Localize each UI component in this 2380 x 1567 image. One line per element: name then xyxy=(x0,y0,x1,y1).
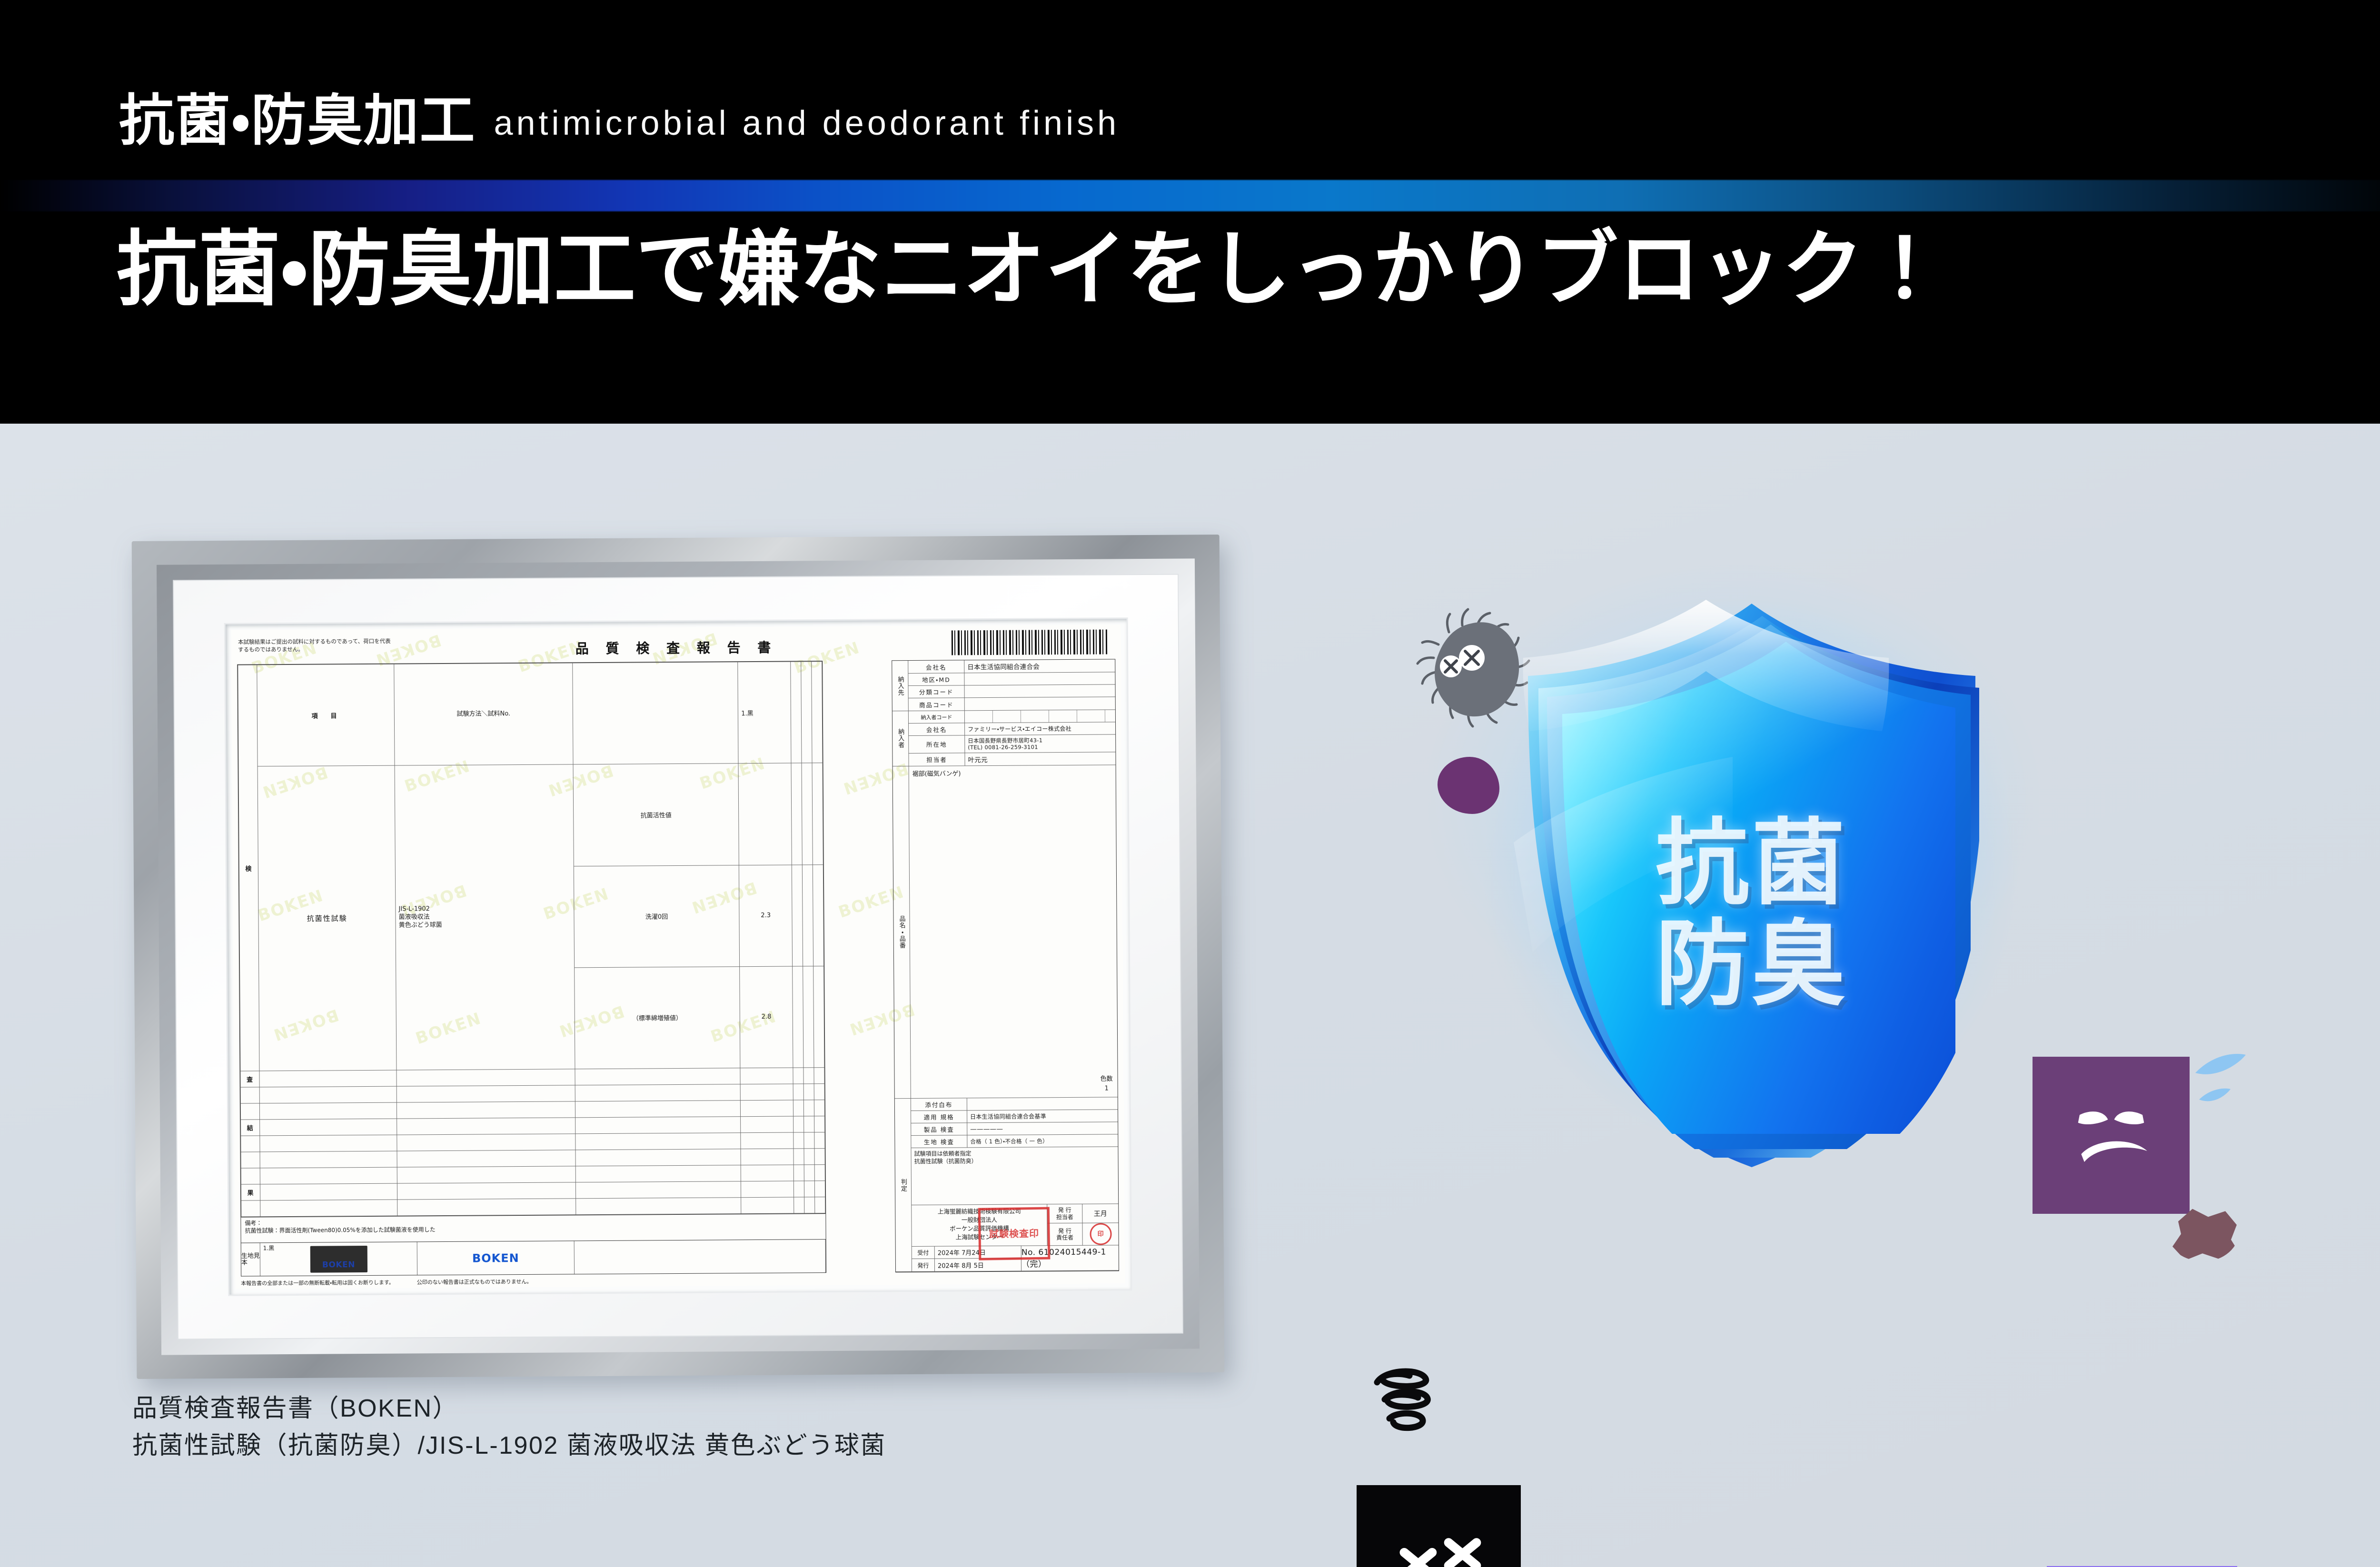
info-row: 担当者 叶元元 xyxy=(909,752,1115,766)
value-issued: 2024年 8月 5日 xyxy=(935,1259,1021,1271)
cell-blank xyxy=(794,1197,804,1213)
issuer-meta-row: 発 行 責任者 印 xyxy=(1047,1223,1118,1245)
judgement-vertical-label: 判定 xyxy=(895,1099,912,1271)
swatch-blank-cell xyxy=(575,1240,826,1274)
color-count-label: 色数 xyxy=(1101,1074,1113,1084)
cell-blank xyxy=(575,1068,741,1085)
cell-sub-value-0 xyxy=(738,763,792,865)
cell-blank xyxy=(812,763,823,864)
key-supplier-company: 会社名 xyxy=(909,723,965,735)
cell-blank xyxy=(240,1087,259,1103)
cell-blank xyxy=(792,864,803,966)
cell-blank xyxy=(793,1100,804,1116)
key-product-code: 商品コード xyxy=(909,698,965,711)
value-issue-manager: 印 xyxy=(1082,1223,1118,1245)
caption-line-1: 品質検査報告書（BOKEN） xyxy=(132,1390,886,1427)
cell-blank xyxy=(397,1069,575,1086)
cell-blank xyxy=(741,1100,793,1117)
value-supplier-contact: 叶元元 xyxy=(965,752,1115,765)
cell-blank xyxy=(575,1133,741,1150)
cell-blank xyxy=(802,763,813,864)
cell-blank xyxy=(259,1070,397,1087)
cell-blank xyxy=(793,966,803,1068)
cell-blank xyxy=(241,1200,260,1217)
cell-blank xyxy=(741,1165,794,1181)
judgement-block: 判定 添付白布 適用 規格 日本生活協同組合連合会基準 製品 検査 ————— xyxy=(895,1097,1119,1272)
cell-blank xyxy=(804,1116,814,1132)
antibacterial-shield-badge: 抗菌 防臭 xyxy=(1514,600,1990,1147)
table-header-row: 検 項 目 試験方法＼試料No. 1.黒 xyxy=(238,662,823,767)
cell-blank xyxy=(260,1119,397,1136)
cell-sub-value-2: 2.8 xyxy=(740,966,793,1068)
col-header-item: 項 目 xyxy=(257,664,395,766)
info-row: 会社名 日本生活協同組合連合会 xyxy=(908,659,1115,674)
swatch-vertical-label: 生地見本 xyxy=(241,1243,260,1276)
cell-blank xyxy=(241,1152,260,1168)
dates-block: 受付 2024年 7月24日 発行 2024年 8月 5日 No. 610240… xyxy=(912,1245,1119,1271)
value-received: 2024年 7月24日 xyxy=(935,1246,1021,1259)
dizzy-squiggle-icon xyxy=(1368,1366,1464,1457)
key-standard: 適用 規格 xyxy=(911,1111,967,1123)
cell-blank xyxy=(794,1181,804,1197)
info-row: 生地 検査 合格（ 1 色）・不合格（ 一 色） xyxy=(911,1134,1118,1148)
value-supplier-address: 日本国長野県長野市居町43-1 (TEL) 0081-26-259-3101 xyxy=(965,734,1115,753)
report-info-panel: 納入先 会社名 日本生活協同組合連合会 地区・MD 分類コード xyxy=(892,659,1119,1272)
col-header-blank xyxy=(572,662,738,764)
value-supplier-code xyxy=(965,710,1115,723)
issuer-meta: 発 行 担当者 王月 発 行 責任者 印 xyxy=(1047,1204,1119,1245)
info-row: 添付白布 xyxy=(911,1097,1118,1111)
key-category-code: 分類コード xyxy=(909,685,965,698)
col-header-x2 xyxy=(801,662,812,763)
red-seal-icon: 印 xyxy=(1090,1223,1111,1245)
cell-blank xyxy=(814,1165,825,1181)
cell-blank xyxy=(741,1149,793,1165)
product-name: 裾部(磁気バンゲ) xyxy=(912,770,961,778)
key-fabric-inspection: 生地 検査 xyxy=(911,1135,967,1148)
value-product-code xyxy=(965,697,1115,710)
key-issued: 発行 xyxy=(912,1259,935,1271)
product-vertical-label: 品名・品番 xyxy=(893,766,911,1098)
key-supplier-address: 所在地 xyxy=(909,735,965,753)
page-headline: 抗菌・防臭加工で嫌なニオイをしっかりブロック！ xyxy=(117,224,1945,316)
info-row: 製品 検査 ————— xyxy=(911,1122,1118,1136)
cell-blank xyxy=(741,1116,793,1133)
fabric-swatch: BOKEN xyxy=(310,1246,367,1273)
framed-certificate: BOKEN BOKEN BOKEN BOKEN BOKEN BOKEN BOKE… xyxy=(132,535,1225,1379)
table-row: 抗菌性試験 JIS-L-1902 菌液吸収法 黄色ぶどう球菌 抗菌活性値 xyxy=(238,763,823,868)
cell-blank xyxy=(814,1100,824,1116)
value-district xyxy=(964,672,1115,685)
cell-blank xyxy=(741,1132,793,1149)
cell-test-name: 抗菌性試験 xyxy=(258,765,397,1071)
product-block: 品名・品番 裾部(磁気バンゲ) 色数 1 xyxy=(893,765,1118,1099)
date-row: 発行 2024年 8月 5日 xyxy=(912,1259,1021,1271)
value-attached-cloth xyxy=(967,1097,1118,1110)
cell-blank xyxy=(397,1085,575,1102)
issuer-line-1: 上海蛍麗紡織技術検験有限公司 xyxy=(914,1207,1044,1216)
cell-blank xyxy=(575,1149,741,1166)
vertical-label-ken: 検 xyxy=(238,665,259,1071)
cell-blank xyxy=(575,1198,741,1215)
cell-blank xyxy=(259,1086,397,1103)
cell-blank xyxy=(575,1181,741,1199)
cell-blank xyxy=(241,1168,260,1184)
swatch-chip-cell: 1.黒 BOKEN xyxy=(260,1242,417,1276)
issuer-meta-row: 発 行 担当者 王月 xyxy=(1047,1204,1118,1223)
results-table: 検 項 目 試験方法＼試料No. 1.黒 抗菌性試験 JIS-L-1902 菌液… xyxy=(237,661,826,1217)
key-supplier-code: 納入者コード xyxy=(909,711,965,723)
cell-sub-label-0: 抗菌活性値 xyxy=(573,764,739,866)
cell-blank xyxy=(804,1132,814,1149)
cell-blank xyxy=(575,1117,741,1134)
footer-note-1: 本報告書の全部または一部の無断転載・転用は固くお断りします。 xyxy=(241,1279,394,1287)
cell-blank xyxy=(814,1084,824,1100)
date-row: 受付 2024年 7月24日 xyxy=(912,1246,1021,1259)
cell-blank xyxy=(804,1165,814,1181)
cell-blank xyxy=(791,763,802,864)
cell-blank xyxy=(260,1151,397,1168)
info-row: 地区・MD xyxy=(908,672,1115,686)
key-issue-staff: 発 行 担当者 xyxy=(1047,1204,1082,1223)
cell-blank xyxy=(804,1149,814,1165)
swatch-chip-logo: BOKEN xyxy=(322,1260,355,1269)
cell-blank xyxy=(740,1084,793,1101)
eyebrow-japanese: 抗菌・防臭加工 xyxy=(119,93,476,148)
cell-sub-value-1: 2.3 xyxy=(739,865,793,967)
key-issue-manager: 発 行 責任者 xyxy=(1047,1223,1082,1245)
cell-blank xyxy=(397,1118,575,1135)
col-header-x1 xyxy=(791,662,802,763)
supplier-vertical-label: 納入者 xyxy=(892,711,909,766)
document-number: No. 61024015449-1（完） xyxy=(1021,1245,1119,1270)
issuer-line-2: 一般財団法人 xyxy=(914,1215,1044,1225)
judgement-note: 試験項目は依頼者指定 抗菌性試験（抗菌防臭） xyxy=(911,1147,1118,1205)
caption-line-2: 抗菌性試験（抗菌防臭）/JIS-L-1902 菌液吸収法 黄色ぶどう球菌 xyxy=(132,1427,886,1464)
color-count-value: 1 xyxy=(1101,1084,1113,1093)
cell-blank xyxy=(803,1100,814,1116)
virus-body xyxy=(1358,1488,1519,1567)
cell-blank xyxy=(803,1068,814,1084)
delivery-to-vertical-label: 納入先 xyxy=(892,661,909,711)
cell-sub-label-2: （標準綿増殖値） xyxy=(574,966,740,1069)
issuer-line-3: ボーケン品質評価機構 xyxy=(914,1224,1044,1234)
cell-blank xyxy=(803,1084,814,1100)
color-count: 色数 1 xyxy=(1101,1074,1113,1093)
cell-blank xyxy=(814,1068,824,1084)
supplier-block: 納入者 納入者コード 会社名 ファミリー・サービス・エイコー株式会社 所在地 xyxy=(892,710,1116,766)
issuer-line-4: 上海試験センター xyxy=(915,1233,1044,1242)
value-company: 日本生活協同組合連合会 xyxy=(964,659,1115,673)
eyebrow-row: 抗菌・防臭加工 antimicrobial and deodorant fini… xyxy=(119,93,1120,148)
cell-blank xyxy=(813,864,823,966)
cell-blank xyxy=(397,1134,575,1151)
cell-blank xyxy=(260,1200,397,1217)
fabric-swatch-row: 生地見本 1.黒 BOKEN BOKEN xyxy=(241,1240,826,1277)
certificate-caption: 品質検査報告書（BOKEN） 抗菌性試験（抗菌防臭）/JIS-L-1902 菌液… xyxy=(132,1390,886,1464)
cell-blank xyxy=(793,1116,804,1132)
cell-blank xyxy=(397,1182,576,1200)
value-issue-staff: 王月 xyxy=(1082,1204,1118,1222)
content-stage: BOKEN BOKEN BOKEN BOKEN BOKEN BOKEN BOKE… xyxy=(0,424,2380,1567)
cell-blank xyxy=(575,1165,741,1182)
cell-blank xyxy=(803,966,814,1068)
barcode xyxy=(952,629,1109,655)
shield-label: 抗菌 防臭 xyxy=(1514,600,1990,1171)
cell-blank xyxy=(740,1068,793,1084)
value-product-inspection: ————— xyxy=(967,1122,1118,1135)
cell-blank xyxy=(793,1068,803,1084)
cell-blank xyxy=(815,1197,825,1213)
swatch-number: 1.黒 xyxy=(263,1244,275,1252)
cell-test-method: JIS-L-1902 菌液吸収法 黄色ぶどう球菌 xyxy=(395,764,575,1070)
cell-blank xyxy=(814,1116,825,1132)
key-received: 受付 xyxy=(912,1247,935,1259)
shield-line-1: 抗菌 xyxy=(1656,814,1848,913)
sweat-drop-small xyxy=(2199,1089,2231,1101)
shield-line-2: 防臭 xyxy=(1656,915,1848,1014)
info-row: 所在地 日本国長野県長野市居町43-1 (TEL) 0081-26-259-31… xyxy=(909,734,1115,753)
key-attached-cloth: 添付白布 xyxy=(911,1098,967,1111)
info-row: 会社名 ファミリー・サービス・エイコー株式会社 xyxy=(909,722,1115,736)
cell-blank xyxy=(397,1150,575,1167)
info-row: 分類コード xyxy=(909,684,1115,698)
cell-blank xyxy=(804,1197,815,1213)
sweat-drops-icon xyxy=(2185,1052,2266,1142)
info-row: 商品コード xyxy=(909,697,1115,711)
value-supplier-company: ファミリー・サービス・エイコー株式会社 xyxy=(965,722,1115,735)
cell-blank xyxy=(793,1084,803,1100)
cell-blank xyxy=(260,1167,397,1184)
value-standard: 日本生活協同組合連合会基準 xyxy=(967,1110,1118,1122)
cell-blank xyxy=(802,864,813,966)
table-row xyxy=(241,1197,825,1217)
col-header-method: 試験方法＼試料No. xyxy=(394,663,573,766)
cell-blank xyxy=(814,1132,825,1149)
cell-blank xyxy=(793,1149,804,1165)
black-virus-svg xyxy=(1357,1485,1521,1567)
cell-blank xyxy=(575,1101,741,1118)
issuer-name: 上海蛍麗紡織技術検験有限公司 一般財団法人 ボーケン品質評価機構 上海試験センタ… xyxy=(912,1204,1047,1246)
cell-blank xyxy=(397,1166,575,1183)
footer-note-2: 公印のない報告書は正式なものではありません。 xyxy=(417,1278,532,1286)
col-header-x3 xyxy=(812,662,823,763)
boken-logo: BOKEN xyxy=(417,1241,575,1275)
value-category-code xyxy=(965,684,1115,697)
cell-blank xyxy=(814,1181,825,1197)
info-row: 適用 規格 日本生活協同組合連合会基準 xyxy=(911,1110,1118,1123)
cell-blank xyxy=(575,1084,741,1101)
cell-blank xyxy=(814,1149,825,1165)
cell-blank xyxy=(793,1165,804,1181)
accent-gradient-band xyxy=(0,180,2380,211)
cell-blank xyxy=(260,1183,397,1200)
info-row: 納入者コード xyxy=(909,710,1115,724)
cell-sub-label-1: 洗濯0回 xyxy=(574,865,740,967)
eyebrow-english: antimicrobial and deodorant finish xyxy=(494,105,1120,148)
vertical-label-sa: 査 xyxy=(240,1071,259,1087)
issuer-block: 上海蛍麗紡織技術検験有限公司 一般財団法人 ボーケン品質評価機構 上海試験センタ… xyxy=(912,1204,1119,1247)
delivery-to-block: 納入先 会社名 日本生活協同組合連合会 地区・MD 分類コード xyxy=(892,659,1115,711)
black-virus-icon xyxy=(1357,1485,1521,1567)
key-district: 地区・MD xyxy=(908,673,964,685)
cell-blank xyxy=(804,1181,814,1197)
remarks-box: 備考： 抗菌性試験：界面活性剤(Tween80)0.05%を添加した試験菌液を使… xyxy=(240,1214,826,1243)
quality-inspection-report: BOKEN BOKEN BOKEN BOKEN BOKEN BOKEN BOKE… xyxy=(231,625,1125,1289)
cell-blank xyxy=(240,1103,259,1120)
cell-blank xyxy=(259,1102,397,1120)
cell-blank xyxy=(241,1136,260,1152)
page-header: 抗菌・防臭加工 antimicrobial and deodorant fini… xyxy=(0,0,2380,424)
key-supplier-contact: 担当者 xyxy=(909,753,965,766)
cell-blank xyxy=(793,1132,804,1149)
value-fabric-inspection: 合格（ 1 色）・不合格（ 一 色） xyxy=(967,1134,1118,1147)
cell-blank xyxy=(741,1197,794,1214)
vertical-label-ketsu: 結 xyxy=(241,1120,260,1136)
cell-blank xyxy=(397,1199,576,1216)
cell-blank xyxy=(397,1101,575,1119)
cell-blank xyxy=(813,966,824,1067)
col-header-sample: 1.黒 xyxy=(738,662,791,764)
cell-blank xyxy=(741,1181,794,1198)
key-product-inspection: 製品 検査 xyxy=(911,1123,967,1135)
cell-blank xyxy=(260,1135,397,1152)
vertical-label-ka: 果 xyxy=(241,1184,260,1200)
product-body: 裾部(磁気バンゲ) 色数 1 xyxy=(909,765,1118,1098)
key-company: 会社名 xyxy=(908,660,964,673)
sweat-drop-large xyxy=(2195,1054,2246,1074)
